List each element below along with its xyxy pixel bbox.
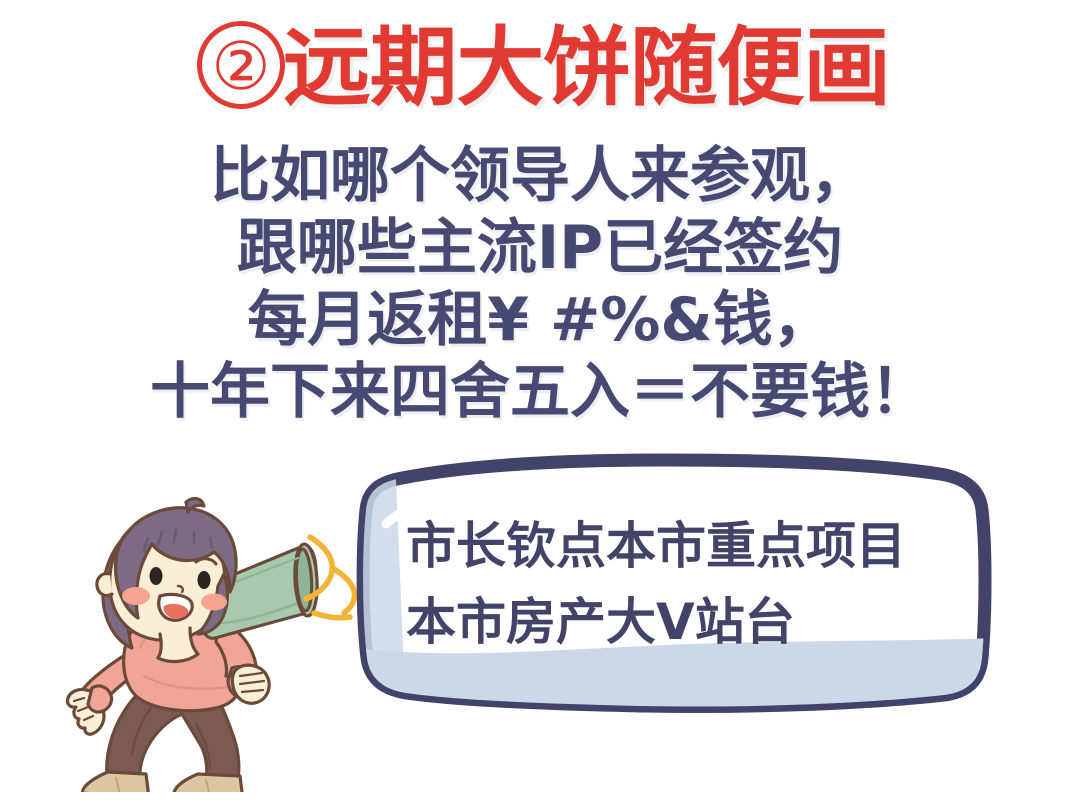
headline-text: 远期大饼随便画 xyxy=(283,14,890,122)
body-line-2: 跟哪些主流IP已经签约 xyxy=(0,212,1080,284)
speech-bubble: 市长钦点本市重点项目 本市房产大V站台 xyxy=(344,452,1004,720)
body-line-1: 比如哪个领导人来参观， xyxy=(0,140,1080,212)
circled-number-two-icon: ② xyxy=(197,21,285,109)
body-text-block: 比如哪个领导人来参观， 跟哪些主流IP已经签约 每月返租¥ #%&钱， 十年下来… xyxy=(0,140,1080,428)
body-line-3: 每月返租¥ #%&钱， xyxy=(0,284,1080,356)
speech-bubble-line-2: 本市房产大V站台 xyxy=(406,584,966,660)
page-title: ②远期大饼随便画 xyxy=(0,14,1080,122)
speech-bubble-text: 市长钦点本市重点项目 本市房产大V站台 xyxy=(406,508,966,660)
body-line-4: 十年下来四舍五入＝不要钱！ xyxy=(0,356,1080,428)
speech-bubble-line-1: 市长钦点本市重点项目 xyxy=(406,508,966,584)
poster-root: ②远期大饼随便画 比如哪个领导人来参观， 跟哪些主流IP已经签约 每月返租¥ #… xyxy=(0,0,1080,804)
